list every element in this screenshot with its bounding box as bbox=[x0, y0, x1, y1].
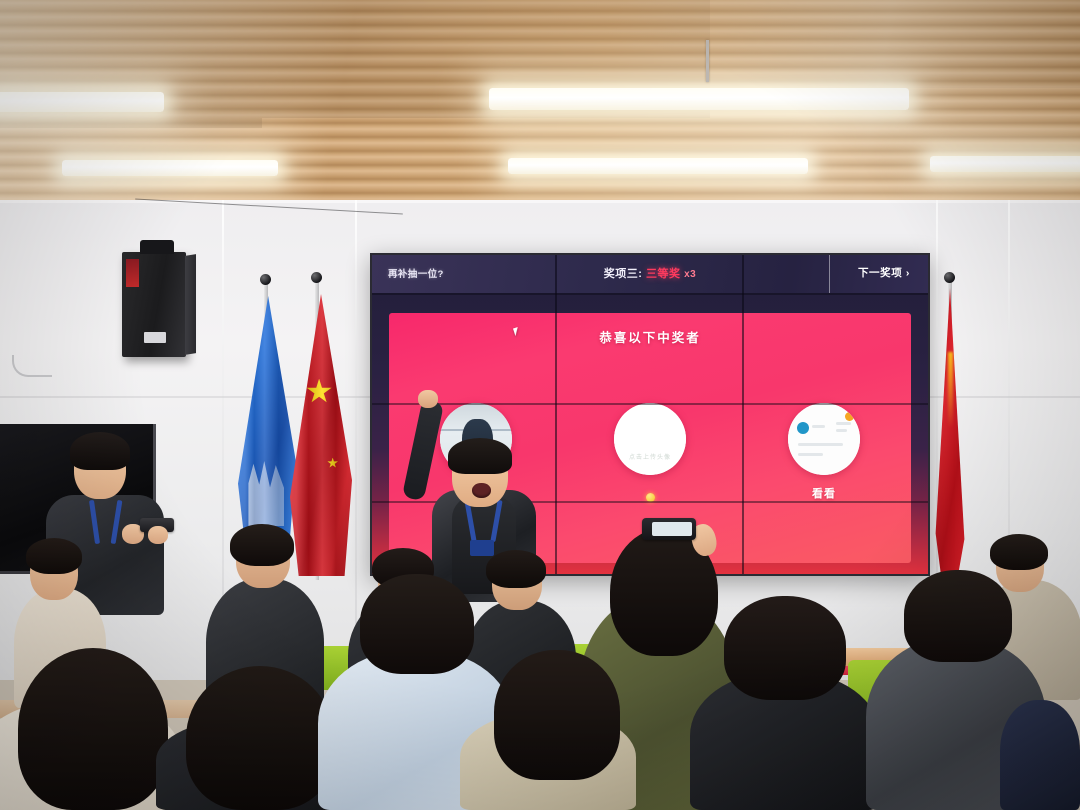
avatar: 点击上传头像 bbox=[614, 403, 686, 475]
photo-scene: 再补抽一位? 奖项三: 三等奖 x3 下一奖项 › 恭喜以下中奖者 bbox=[0, 0, 1080, 810]
flag-star-large-icon bbox=[306, 379, 332, 405]
ceiling-hanger bbox=[706, 40, 709, 82]
prize-title-prefix: 奖项三: bbox=[604, 268, 643, 280]
presenter-hair bbox=[70, 432, 130, 470]
winner-name: 看看 bbox=[812, 485, 836, 501]
jbl-logo-icon bbox=[144, 332, 166, 343]
ceiling-light-tube bbox=[508, 158, 808, 174]
flag-finial-icon bbox=[311, 272, 322, 283]
next-prize-button[interactable]: 下一奖项 › bbox=[852, 262, 916, 283]
flag-highlight bbox=[948, 352, 953, 428]
flag-finial-icon bbox=[260, 274, 271, 285]
display-bezel-seam bbox=[742, 253, 744, 576]
raised-fist bbox=[418, 390, 438, 408]
hand bbox=[148, 526, 168, 544]
badge-card bbox=[470, 540, 494, 556]
speaker-label-sticker bbox=[126, 259, 139, 287]
flag-logo-icon bbox=[248, 457, 284, 527]
prize-count: x3 bbox=[684, 269, 696, 280]
topbar-divider bbox=[829, 253, 831, 293]
open-mouth bbox=[472, 483, 491, 498]
avatar-blank: 点击上传头像 bbox=[614, 403, 686, 475]
ceiling-light-tube bbox=[62, 160, 278, 176]
chevron-right-icon: › bbox=[906, 267, 910, 279]
avatar-placeholder-text: 点击上传头像 bbox=[614, 452, 686, 461]
ceiling-light-tube bbox=[930, 156, 1080, 172]
slat-ceiling bbox=[0, 0, 1080, 205]
speaker-side-panel bbox=[185, 254, 196, 355]
display-bezel-seam bbox=[370, 293, 930, 295]
display-bezel-seam bbox=[370, 403, 930, 405]
speaker-cable bbox=[12, 355, 52, 377]
display-bezel-seam bbox=[555, 253, 557, 576]
winner-card[interactable]: 点击上传头像 bbox=[580, 403, 720, 502]
next-prize-label: 下一奖项 bbox=[858, 267, 902, 279]
ceiling-light-tube bbox=[489, 88, 909, 110]
winner-card[interactable]: 看看 bbox=[754, 403, 894, 501]
prize-name: 三等奖 bbox=[646, 268, 681, 280]
prize-title: 奖项三: 三等奖 x3 bbox=[370, 265, 930, 281]
avatar bbox=[788, 403, 860, 475]
speaker-bracket bbox=[140, 240, 174, 254]
jbl-speaker bbox=[122, 252, 186, 357]
avatar-card-screenshot bbox=[788, 403, 860, 475]
ceiling-light-tube bbox=[0, 92, 164, 112]
winner-hair bbox=[448, 438, 512, 474]
flag-star-small-icon bbox=[327, 458, 338, 469]
congrats-heading: 恭喜以下中奖者 bbox=[389, 327, 911, 346]
flag-finial-icon bbox=[944, 272, 955, 283]
